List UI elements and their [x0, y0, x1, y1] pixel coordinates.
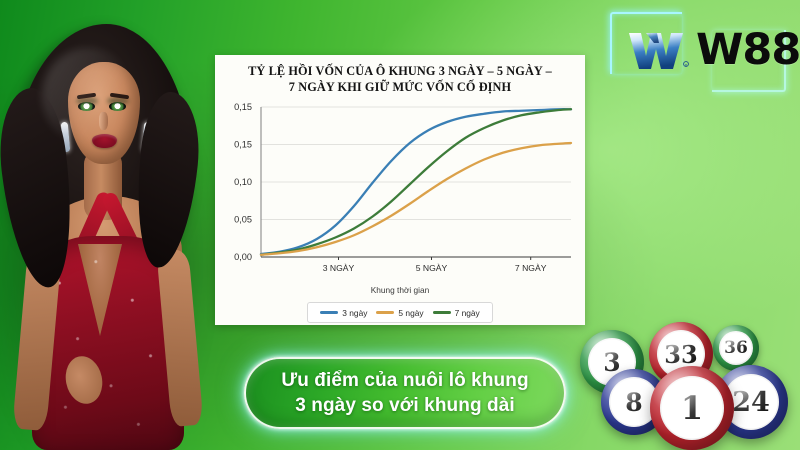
- legend-item[interactable]: 5 ngày: [376, 308, 423, 318]
- chart-legend: 3 ngày5 ngày7 ngày: [307, 302, 493, 323]
- woman-in-red-dress-figure: [0, 0, 224, 450]
- w88-w-mark-icon: R: [628, 30, 690, 72]
- headline-line-2: 3 ngày so với khung dài: [295, 393, 515, 418]
- y-tick-label: 0,15: [234, 102, 252, 112]
- headline-line-1: Ưu điểm của nuôi lô khung: [281, 368, 528, 393]
- x-tick-label: 7 NGÀY: [515, 263, 547, 273]
- plot-area: 0,150,150,100,050,003 NGÀY5 NGÀY7 NGÀY: [215, 99, 585, 289]
- line-chart-plot: 0,150,150,100,050,003 NGÀY5 NGÀY7 NGÀY: [215, 99, 585, 289]
- w88-logo-text: W88: [696, 28, 800, 72]
- lottery-ball-number: 1: [650, 366, 734, 450]
- lottery-balls-group: 333368241: [566, 316, 800, 450]
- chart-title: TỶ LỆ HỒI VỐN CỦA Ô KHUNG 3 NGÀY – 5 NGÀ…: [215, 55, 585, 95]
- legend-item[interactable]: 3 ngày: [320, 308, 367, 318]
- chart-title-line-1: TỶ LỆ HỒI VỐN CỦA Ô KHUNG 3 NGÀY – 5 NGÀ…: [231, 64, 569, 80]
- legend-item[interactable]: 7 ngày: [433, 308, 480, 318]
- hair-sheen: [42, 48, 134, 144]
- poster-canvas: R W88 TỶ LỆ HỒI VỐN CỦA Ô KHUNG 3 NGÀY –…: [0, 0, 800, 450]
- y-tick-label: 0,05: [234, 215, 252, 225]
- y-tick-label: 0,00: [234, 252, 252, 262]
- y-tick-label: 0,15: [234, 140, 252, 150]
- chart-line-5-ngày: [261, 143, 571, 255]
- legend-swatch-icon: [433, 311, 451, 314]
- x-tick-label: 3 NGÀY: [323, 263, 355, 273]
- legend-label: 3 ngày: [342, 308, 367, 318]
- legend-swatch-icon: [376, 311, 394, 314]
- headline-banner[interactable]: Ưu điểm của nuôi lô khung 3 ngày so với …: [244, 357, 566, 429]
- x-tick-label: 5 NGÀY: [416, 263, 448, 273]
- legend-label: 7 ngày: [455, 308, 480, 318]
- legend-swatch-icon: [320, 311, 338, 314]
- legend-label: 5 ngày: [398, 308, 423, 318]
- chart-title-line-2: 7 NGÀY KHI GIỮ MỨC VỐN CỐ ĐỊNH: [231, 80, 569, 96]
- chart-card: TỶ LỆ HỒI VỐN CỦA Ô KHUNG 3 NGÀY – 5 NGÀ…: [215, 55, 585, 325]
- lottery-ball: 1: [650, 366, 734, 450]
- w88-logo[interactable]: R W88: [600, 8, 792, 94]
- y-tick-label: 0,10: [234, 177, 252, 187]
